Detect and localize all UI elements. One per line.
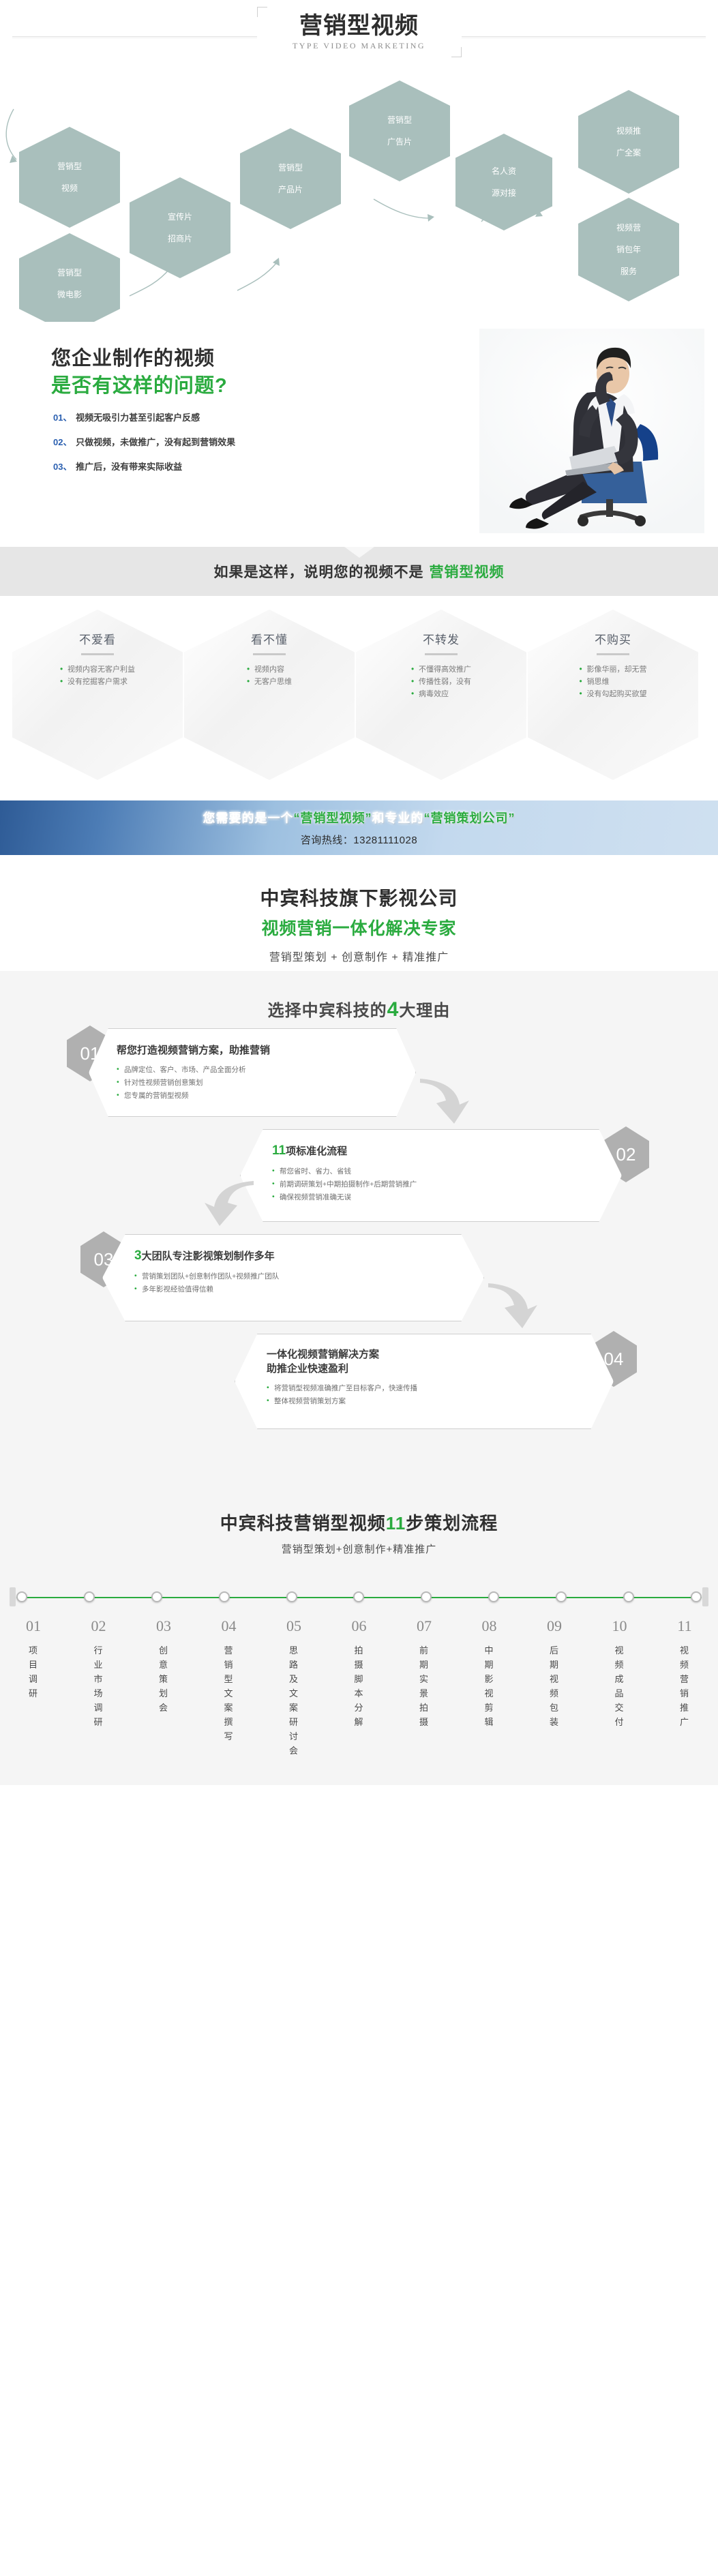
page-subtitle-en: TYPE VIDEO MARKETING — [293, 41, 425, 51]
page-title: 营销型视频 — [299, 13, 419, 39]
symptom-bullet: 传播性弱，没有 — [411, 676, 471, 688]
problem-item-number: 02、 — [53, 437, 72, 447]
problem-headline-1: 您企业制作的视频 — [51, 342, 215, 371]
problem-item-text: 推广后，没有带来实际收益 — [76, 462, 182, 472]
step-label: 思路及文案研讨会 — [267, 1643, 320, 1758]
company-line-2: 视频营销一体化解决专家 — [0, 915, 718, 940]
timeline-dot[interactable] — [556, 1591, 567, 1602]
hex-line: 宣传片 — [168, 211, 192, 222]
symptom-title: 不转发 — [356, 630, 526, 647]
step-item: 03 创意策划会 — [137, 1617, 190, 1758]
symptom-bullet-cont: 销思维 — [580, 676, 647, 688]
hex-line: 广告片 — [387, 136, 412, 147]
step-label: 拍摄脚本分解 — [333, 1643, 386, 1729]
reason-bullet: 品牌定位、客户、市场、产品全面分析 — [117, 1064, 388, 1077]
timeline-dot[interactable] — [691, 1591, 702, 1602]
company-section: 中宾科技旗下影视公司 视频营销一体化解决专家 营销型策划 + 创意制作 + 精准… — [0, 855, 718, 971]
hex-line: 产品片 — [278, 184, 303, 195]
steps-heading-number: 11 — [386, 1513, 406, 1533]
symptom-title: 不购买 — [528, 630, 698, 647]
step-number: 10 — [593, 1617, 646, 1635]
company-line-1: 中宾科技旗下影视公司 — [0, 884, 718, 911]
hex-micro-movie[interactable]: 营销型 微电影 — [19, 233, 120, 334]
reason-arrow-3 — [485, 1278, 544, 1330]
step-number: 04 — [203, 1617, 256, 1635]
symptom-bullets: 不懂得高效推广 传播性弱，没有 病毒效应 — [411, 663, 471, 700]
timeline-dot[interactable] — [286, 1591, 297, 1602]
steps-subheading: 营销型策划+创意制作+精准推广 — [0, 1542, 718, 1556]
timeline-dot[interactable] — [16, 1591, 27, 1602]
cta-hotline[interactable]: 咨询热线：13281111028 — [301, 833, 417, 847]
reason-card-02[interactable]: 11项标准化流程 帮您省时、省力、省钱 前期调研策划+中期拍摄制作+后期营销推广… — [240, 1129, 622, 1222]
reason-bullet: 您专属的营销型视频 — [117, 1090, 388, 1103]
reason-bullets: 帮您省时、省力、省钱 前期调研策划+中期拍摄制作+后期营销推广 确保视频营销准确… — [272, 1165, 590, 1204]
step-item: 05 思路及文案研讨会 — [267, 1617, 320, 1758]
step-label: 视频营销推广 — [658, 1643, 711, 1729]
cta-quote-1: “营销型视频” — [294, 811, 372, 825]
symptom-bullet-cont: 病毒效应 — [411, 688, 471, 700]
hex-line: 视频 — [57, 183, 82, 194]
step-item: 07 前期实景拍摄 — [398, 1617, 451, 1758]
step-item: 06 拍摄脚本分解 — [333, 1617, 386, 1758]
reason-title-text: 帮您打造视频营销方案，助推营销 — [117, 1045, 270, 1056]
step-label: 后期视频包装 — [528, 1643, 581, 1729]
grey-banner-highlight: 营销型视频 — [430, 561, 505, 582]
symptom-card: 不购买 影像华丽，却无营 销思维 没有勾起购买欲望 — [528, 630, 698, 700]
symptom-bullet: 不懂得高效推广 — [411, 663, 471, 676]
problem-item: 01、 视频无吸引力甚至引起客户反感 — [53, 410, 235, 423]
symptom-bullet: 影像华丽，却无营 — [580, 663, 647, 676]
symptom-divider — [597, 653, 629, 655]
reason-card-title: 帮您打造视频营销方案，助推营销 — [117, 1043, 388, 1057]
reason-bullet: 营销策划团队+创意制作团队+视频推广团队 — [134, 1270, 452, 1283]
hex-line: 营销型 — [57, 267, 82, 278]
reason-arrow-2 — [198, 1175, 256, 1227]
reason-bullets: 营销策划团队+创意制作团队+视频推广团队 多年影视经验值得信赖 — [134, 1270, 452, 1296]
step-number: 11 — [658, 1617, 711, 1635]
cta-quote-2: “营销策划公司” — [424, 811, 515, 825]
hex-annual-service[interactable]: 视频营 销包年 服务 — [578, 198, 679, 301]
reason-card-01[interactable]: 帮您打造视频营销方案，助推营销 品牌定位、客户、市场、产品全面分析 针对性视频营… — [89, 1028, 416, 1117]
reason-card-03[interactable]: 3大团队专注影视策划制作多年 营销策划团队+创意制作团队+视频推广团队 多年影视… — [102, 1234, 484, 1321]
reason-bullet: 帮您省时、省力、省钱 — [272, 1165, 590, 1178]
reason-card-title: 3大团队专注影视策划制作多年 — [134, 1248, 452, 1263]
symptom-bullet: 无客户思维 — [247, 676, 292, 688]
page-header: 营销型视频 TYPE VIDEO MARKETING — [0, 0, 718, 102]
hex-line: 服务 — [616, 266, 641, 277]
problem-headline-2: 是否有这样的问题? — [51, 370, 228, 398]
problem-item-number: 01、 — [53, 413, 72, 423]
step-item: 01 项目调研 — [7, 1617, 60, 1758]
grey-banner: 如果是这样，说明您的视频不是 营销型视频 — [0, 547, 718, 596]
reasons-heading-before: 选择中宾科技的 — [268, 1002, 387, 1020]
reasons-section: 选择中宾科技的4大理由 01 帮您打造视频营销方案，助推营销 品牌定位、客户、市… — [0, 971, 718, 1489]
symptom-card: 看不懂 视频内容 无客户思维 — [184, 630, 355, 688]
cta-text-a: 您需要的是一个 — [203, 811, 294, 825]
cta-banner: 您需要的是一个“营销型视频”和专业的“营销策划公司” 咨询热线：13281111… — [0, 800, 718, 855]
step-item: 02 行业市场调研 — [72, 1617, 125, 1758]
steps-heading-b: 步策划流程 — [406, 1513, 498, 1533]
step-number: 09 — [528, 1617, 581, 1635]
symptom-divider — [425, 653, 458, 655]
hex-line: 源对接 — [492, 188, 516, 198]
reason-card-title: 11项标准化流程 — [272, 1143, 590, 1158]
hex-product-film[interactable]: 营销型 产品片 — [240, 128, 341, 229]
step-number: 03 — [137, 1617, 190, 1635]
timeline-dot[interactable] — [219, 1591, 230, 1602]
cta-text-b: 和专业的 — [372, 811, 424, 825]
timeline-dot[interactable] — [84, 1591, 95, 1602]
cta-banner-line1: 您需要的是一个“营销型视频”和专业的“营销策划公司” — [203, 809, 515, 826]
hex-line: 名人资 — [492, 166, 516, 177]
company-line-3: 营销型策划 + 创意制作 + 精准推广 — [0, 948, 718, 964]
step-label: 前期实景拍摄 — [398, 1643, 451, 1729]
reasons-heading-number: 4 — [387, 998, 400, 1021]
step-number: 02 — [72, 1617, 125, 1635]
reason-title-number: 11 — [272, 1143, 286, 1158]
reason-title-number: 3 — [134, 1248, 142, 1263]
timeline-dot[interactable] — [421, 1591, 432, 1602]
step-label: 视频成品交付 — [593, 1643, 646, 1729]
service-hex-grid: 营销型 视频 宣传片 招商片 营销型 产品片 营销型 广告片 名人资 源对接 视… — [0, 97, 718, 322]
step-number: 07 — [398, 1617, 451, 1635]
hex-line: 视频营 — [616, 222, 641, 233]
problem-item-number: 03、 — [53, 462, 72, 472]
reason-bullet: 整体视频营销策划方案 — [267, 1395, 582, 1408]
businessman-photo — [479, 329, 704, 533]
reason-arrow-1 — [417, 1073, 476, 1125]
hex-line: 营销型 — [57, 161, 82, 172]
symptom-card: 不爱看 视频内容无客户利益 没有挖掘客户需求 — [12, 630, 183, 688]
hex-line: 营销型 — [278, 162, 303, 173]
step-number: 08 — [463, 1617, 516, 1635]
symptom-card: 不转发 不懂得高效推广 传播性弱，没有 病毒效应 — [356, 630, 526, 700]
problem-item-text: 视频无吸引力甚至引起客户反感 — [76, 413, 200, 423]
reason-bullet: 将营销型视频准确推广至目标客户，快速传播 — [267, 1382, 582, 1395]
hex-line: 广全案 — [616, 147, 641, 158]
reason-card-title: 一体化视频营销解决方案 助推企业快速盈利 — [267, 1347, 582, 1375]
step-number: 01 — [7, 1617, 60, 1635]
steps-grid: 01 项目调研 02 行业市场调研 03 创意策划会 04 营销型文案撰写 05… — [0, 1617, 718, 1758]
symptom-bullet: 视频内容 — [247, 663, 292, 676]
hex-marketing-video[interactable]: 营销型 视频 — [19, 127, 120, 228]
reasons-heading-after: 大理由 — [399, 1002, 450, 1020]
steps-heading-a: 中宾科技营销型视频 — [220, 1513, 386, 1533]
reason-bullet: 前期调研策划+中期拍摄制作+后期营销推广 — [272, 1178, 590, 1191]
reason-bullets: 品牌定位、客户、市场、产品全面分析 针对性视频营销创意策划 您专属的营销型视频 — [117, 1064, 388, 1103]
problem-section: 您企业制作的视频 是否有这样的问题? 01、 视频无吸引力甚至引起客户反感 02… — [0, 322, 718, 547]
step-item: 10 视频成品交付 — [593, 1617, 646, 1758]
title-frame: 营销型视频 TYPE VIDEO MARKETING — [257, 5, 462, 59]
symptom-bullet: 视频内容无客户利益 — [60, 663, 135, 676]
hex-line: 微电影 — [57, 289, 82, 300]
step-number: 05 — [267, 1617, 320, 1635]
symptom-divider — [81, 653, 114, 655]
hex-line: 营销型 — [387, 115, 412, 125]
reason-bullet: 确保视频营销准确无误 — [272, 1191, 590, 1204]
reasons-heading: 选择中宾科技的4大理由 — [0, 997, 718, 1021]
reason-bullets: 将营销型视频准确推广至目标客户，快速传播 整体视频营销策划方案 — [267, 1382, 582, 1408]
step-number: 06 — [333, 1617, 386, 1635]
steps-section: 中宾科技营销型视频11步策划流程 营销型策划+创意制作+精准推广 — [0, 1489, 718, 1785]
timeline-dot[interactable] — [488, 1591, 499, 1602]
steps-timeline — [10, 1583, 708, 1613]
hex-line: 招商片 — [168, 233, 192, 244]
reason-bullet: 针对性视频营销创意策划 — [117, 1077, 388, 1090]
symptom-title: 不爱看 — [12, 630, 183, 647]
timeline-dot[interactable] — [353, 1591, 364, 1602]
steps-heading: 中宾科技营销型视频11步策划流程 — [0, 1510, 718, 1535]
symptom-bullets: 影像华丽，却无营 销思维 没有勾起购买欲望 — [580, 663, 647, 700]
hex-promotion-plan[interactable]: 视频推 广全案 — [578, 90, 679, 194]
step-item: 09 后期视频包装 — [528, 1617, 581, 1758]
hex-celebrity[interactable]: 名人资 源对接 — [455, 134, 552, 230]
step-item: 08 中期影视剪辑 — [463, 1617, 516, 1758]
step-label: 营销型文案撰写 — [203, 1643, 256, 1743]
problem-list: 01、 视频无吸引力甚至引起客户反感 02、 只做视频，未做推广，没有起到营销效… — [53, 410, 235, 484]
landing-page: 营销型视频 TYPE VIDEO MARKETING 营销型 视频 宣传片 招商… — [0, 0, 718, 1785]
hex-line: 销包年 — [616, 244, 641, 255]
symptom-bullets: 视频内容无客户利益 没有挖掘客户需求 — [60, 663, 135, 688]
timeline-dot[interactable] — [151, 1591, 162, 1602]
step-item: 11 视频营销推广 — [658, 1617, 711, 1758]
reason-title-text: 一体化视频营销解决方案 — [267, 1349, 379, 1360]
step-item: 04 营销型文案撰写 — [203, 1617, 256, 1758]
reason-title-text: 项标准化流程 — [286, 1145, 347, 1157]
symptom-bullet: 没有挖掘客户需求 — [60, 676, 135, 688]
banner-notch-icon — [344, 547, 374, 558]
timeline-dots — [10, 1583, 708, 1602]
problem-item: 02、 只做视频，未做推广，没有起到营销效果 — [53, 435, 235, 448]
grey-banner-text: 如果是这样，说明您的视频不是 — [214, 561, 424, 582]
symptom-hex-row: 不爱看 视频内容无客户利益 没有挖掘客户需求 看不懂 视频内容 无客户思维 不转… — [0, 596, 718, 800]
hex-promo-film[interactable]: 宣传片 招商片 — [130, 177, 230, 278]
step-label: 中期影视剪辑 — [463, 1643, 516, 1729]
problem-item-text: 只做视频，未做推广，没有起到营销效果 — [76, 437, 235, 447]
reason-card-04[interactable]: 一体化视频营销解决方案 助推企业快速盈利 将营销型视频准确推广至目标客户，快速传… — [235, 1334, 614, 1429]
step-label: 项目调研 — [7, 1643, 60, 1701]
reason-title-text: 大团队专注影视策划制作多年 — [142, 1250, 275, 1262]
symptom-bullets: 视频内容 无客户思维 — [247, 663, 292, 688]
step-label: 创意策划会 — [137, 1643, 190, 1715]
symptom-bullet: 没有勾起购买欲望 — [580, 688, 647, 700]
timeline-dot[interactable] — [623, 1591, 634, 1602]
reason-title-text-2: 助推企业快速盈利 — [267, 1363, 348, 1375]
symptom-title: 看不懂 — [184, 630, 355, 647]
problem-item: 03、 推广后，没有带来实际收益 — [53, 460, 235, 473]
step-label: 行业市场调研 — [72, 1643, 125, 1729]
reason-bullet: 多年影视经验值得信赖 — [134, 1283, 452, 1296]
symptom-divider — [253, 653, 286, 655]
hex-line: 视频推 — [616, 125, 641, 136]
